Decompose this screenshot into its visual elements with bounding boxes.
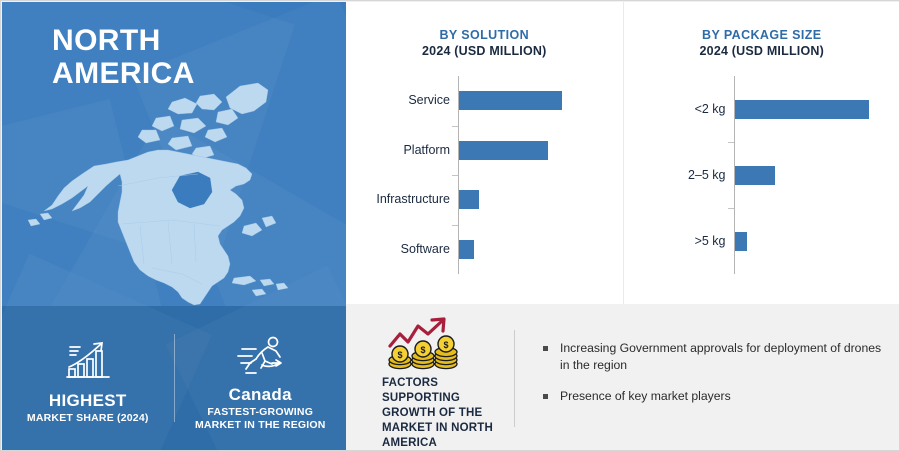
chart-axis-tick [452,126,458,127]
chart-bar-rows: <2 kg2–5 kg>5 kg [624,76,900,274]
factors-bullet-list: Increasing Government approvals for depl… [515,304,900,451]
stat-caption: FASTEST-GROWING MARKET IN THE REGION [195,406,326,432]
chart-bar [735,100,869,119]
chart-plot-area: <2 kg2–5 kg>5 kg [624,76,900,274]
stat-caption: MARKET SHARE (2024) [27,412,149,425]
bullet-text: Increasing Government approvals for depl… [560,340,882,374]
chart-axis-tick [728,142,734,143]
chart-bar [459,240,474,259]
stat-highest-market-share: HIGHEST MARKET SHARE (2024) [2,306,174,450]
region-stats-band: HIGHEST MARKET SHARE (2024) [2,306,346,450]
stat-headline: Canada [229,385,292,404]
chart-bar-row: Infrastructure [346,175,623,225]
svg-text:$: $ [397,350,402,360]
stat-caption-line2: MARKET IN THE REGION [195,419,326,432]
list-item: Presence of key market players [543,388,882,405]
chart-subtitle: 2024 (USD MILLION) [624,43,900,59]
chart-bar-row: >5 kg [624,208,900,274]
stat-fastest-growing-country: Canada FASTEST-GROWING MARKET IN THE REG… [175,306,347,450]
region-title: NORTH AMERICA [52,24,195,90]
bullet-text: Presence of key market players [560,388,731,405]
chart-category-label: 2–5 kg [624,168,726,183]
svg-text:$: $ [420,345,425,355]
chart-bar [735,166,775,185]
chart-title: BY PACKAGE SIZE [624,28,900,43]
chart-subtitle: 2024 (USD MILLION) [346,43,623,59]
chart-bar-row: 2–5 kg [624,142,900,208]
bullet-square-icon [543,346,548,351]
stat-caption-line1: FASTEST-GROWING [195,406,326,419]
chart-bar-row: Software [346,225,623,275]
chart-bar-row: <2 kg [624,76,900,142]
chart-category-label: Infrastructure [346,192,450,207]
chart-plot-area: ServicePlatformInfrastructureSoftware [346,76,623,274]
chart-bar-row: Service [346,76,623,126]
chart-axis-tick [728,208,734,209]
charts-area: BY SOLUTION 2024 (USD MILLION) ServicePl… [346,2,900,304]
chart-bar [459,141,548,160]
infographic-frame: NORTH AMERICA [0,0,900,451]
chart-title: BY SOLUTION [346,28,623,43]
bullet-square-icon [543,394,548,399]
region-panel: NORTH AMERICA [2,2,346,450]
factors-heading: FACTORS SUPPORTING GROWTH OF THE MARKET … [382,376,500,451]
svg-text:$: $ [443,340,448,350]
chart-bar [459,190,479,209]
chart-bar-rows: ServicePlatformInfrastructureSoftware [346,76,623,274]
stat-headline: HIGHEST [49,391,127,410]
chart-axis-tick [452,175,458,176]
region-title-line1: NORTH [52,24,195,57]
running-person-icon [232,331,288,377]
chart-axis-tick [452,225,458,226]
chart-category-label: <2 kg [624,102,726,117]
chart-bar [735,232,747,251]
chart-category-label: >5 kg [624,234,726,249]
coins-growth-arrow-icon: $ $ [382,316,500,370]
chart-category-label: Platform [346,143,450,158]
list-item: Increasing Government approvals for depl… [543,340,882,374]
growth-bar-chart-icon [61,337,115,383]
chart-category-label: Service [346,93,450,108]
chart-by-solution: BY SOLUTION 2024 (USD MILLION) ServicePl… [346,2,623,304]
factors-section: $ $ [346,304,900,451]
chart-category-label: Software [346,242,450,257]
factors-heading-block: $ $ [346,304,514,451]
chart-by-package-size: BY PACKAGE SIZE 2024 (USD MILLION) <2 kg… [623,2,900,304]
chart-bar [459,91,562,110]
chart-bar-row: Platform [346,126,623,176]
region-title-line2: AMERICA [52,57,195,90]
